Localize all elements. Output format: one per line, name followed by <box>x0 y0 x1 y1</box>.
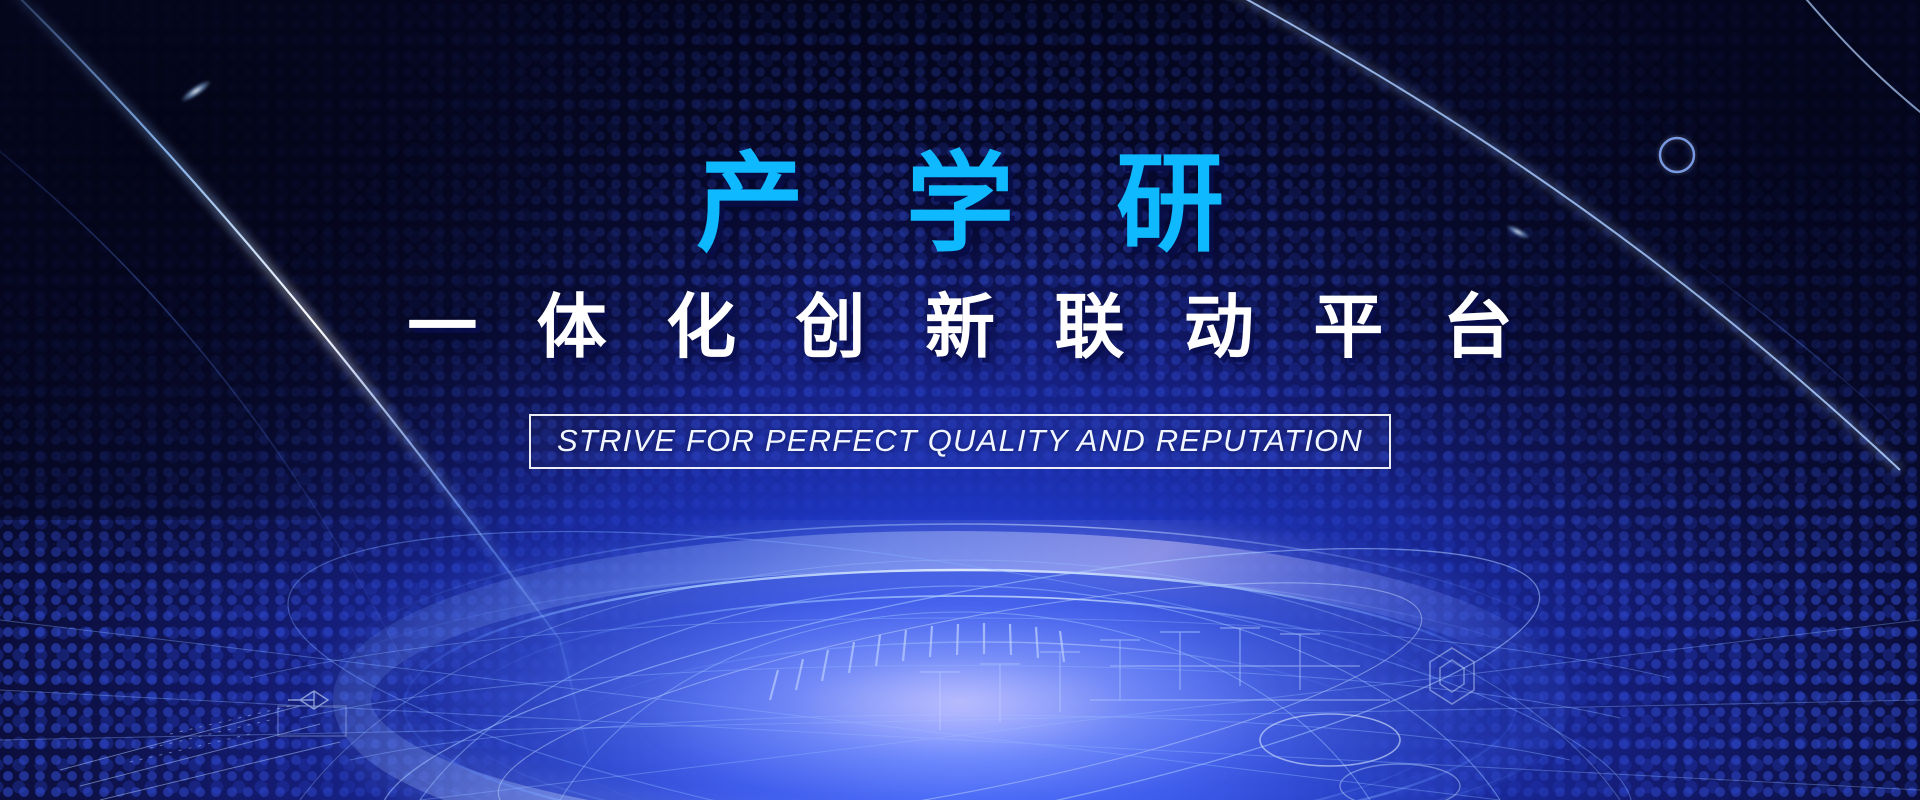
page-subtitle: 一 体 化 创 新 联 动 平 台 <box>387 292 1533 362</box>
tagline-box: STRIVE FOR PERFECT QUALITY AND REPUTATIO… <box>529 414 1391 469</box>
page-title: 产 学 研 <box>660 150 1260 258</box>
english-tagline: STRIVE FOR PERFECT QUALITY AND REPUTATIO… <box>557 425 1363 456</box>
banner-content: 产 学 研 一 体 化 创 新 联 动 平 台 STRIVE FOR PERFE… <box>0 0 1920 800</box>
hero-banner: 产 学 研 一 体 化 创 新 联 动 平 台 STRIVE FOR PERFE… <box>0 0 1920 800</box>
